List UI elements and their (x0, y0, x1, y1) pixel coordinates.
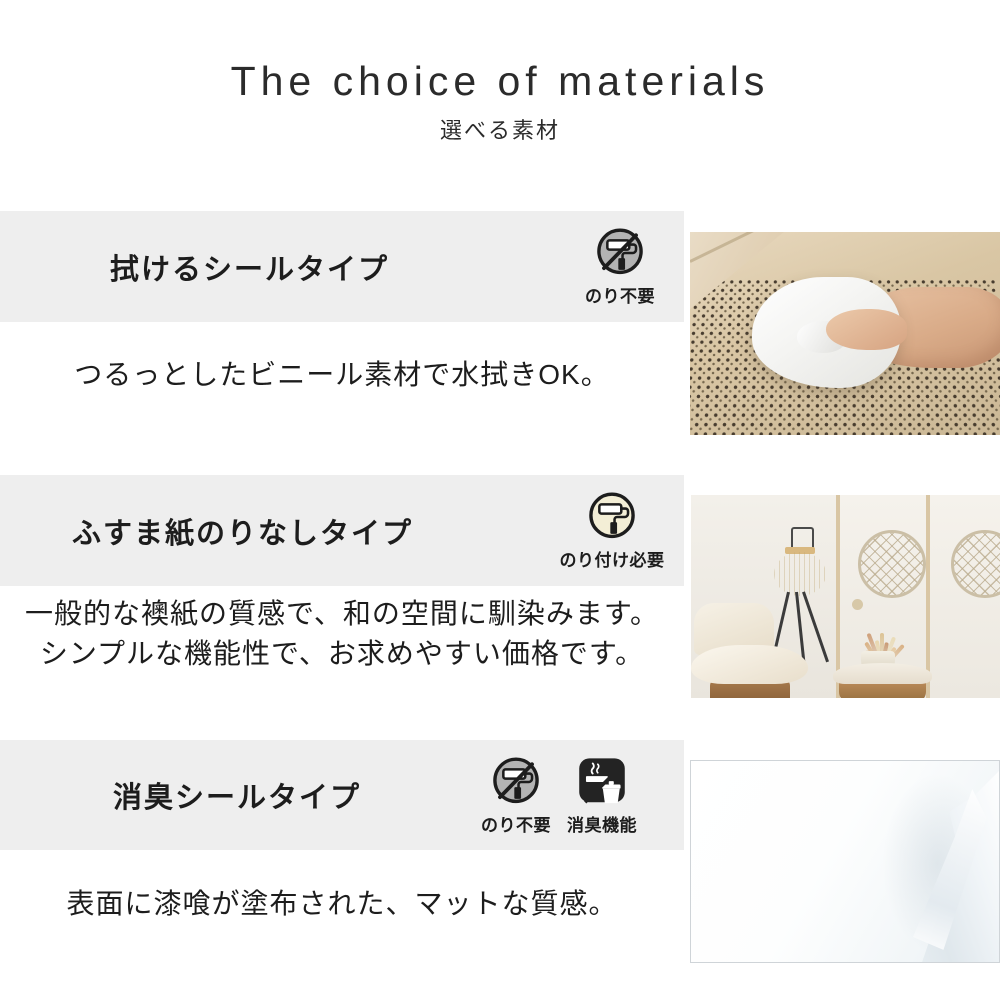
badge-group: のり付け必要 (576, 490, 648, 571)
section-heading: 拭けるシールタイプ (110, 246, 389, 288)
material-section-deodorizing: 消臭シールタイプ のり不要 (0, 729, 1000, 989)
badge-no-glue: のり不要 (584, 226, 656, 307)
page-title-en: The choice of materials (0, 58, 1000, 105)
material-section-fusuma-no-glue: ふすま紙のりなしタイプ のり付け必要 一般的な襖紙の質感で、和の空間に馴染みます… (0, 464, 1000, 714)
glue-required-roller-icon (585, 490, 639, 544)
badge-glue-required: のり付け必要 (576, 490, 648, 571)
badge-label: のり不要 (481, 811, 551, 836)
section-description: 一般的な襖紙の質感で、和の空間に馴染みます。 シンプルな機能性で、お求めやすい価… (0, 594, 684, 674)
deodorizing-icon (575, 755, 629, 809)
section-heading-band: 拭けるシールタイプ のり不要 (0, 211, 684, 322)
section-description: 表面に漆喰が塗布された、マットな質感。 (0, 884, 684, 924)
towel-wiping-rattan-photo (690, 232, 1000, 435)
badge-label: のり不要 (585, 282, 655, 307)
badge-label: のり付け必要 (560, 546, 665, 571)
badge-no-glue: のり不要 (480, 755, 552, 836)
section-heading-band: 消臭シールタイプ のり不要 (0, 740, 684, 850)
badge-label: 消臭機能 (567, 811, 637, 836)
badge-group: のり不要 消臭機能 (480, 755, 638, 836)
japanese-interior-photo (691, 495, 1000, 698)
badge-deodorizing: 消臭機能 (566, 755, 638, 836)
section-heading-band: ふすま紙のりなしタイプ のり付け必要 (0, 475, 684, 586)
no-glue-roller-icon (593, 226, 647, 280)
page-header: The choice of materials 選べる素材 (0, 0, 1000, 200)
section-heading: 消臭シールタイプ (113, 774, 361, 816)
white-paper-curl-photo (690, 760, 1000, 963)
section-description-line: 一般的な襖紙の質感で、和の空間に馴染みます。 (0, 594, 684, 634)
section-description-line: シンプルな機能性で、お求めやすい価格です。 (0, 634, 684, 674)
badge-group: のり不要 (584, 226, 656, 307)
no-glue-roller-icon (489, 755, 543, 809)
section-description: つるっとしたビニール素材で水拭きOK。 (0, 355, 684, 395)
page-title-ja: 選べる素材 (0, 113, 1000, 145)
section-heading: ふすま紙のりなしタイプ (72, 510, 413, 552)
material-section-wipeable: 拭けるシールタイプ のり不要 つるっとしたビニール素材で水拭きOK。 (0, 200, 1000, 450)
